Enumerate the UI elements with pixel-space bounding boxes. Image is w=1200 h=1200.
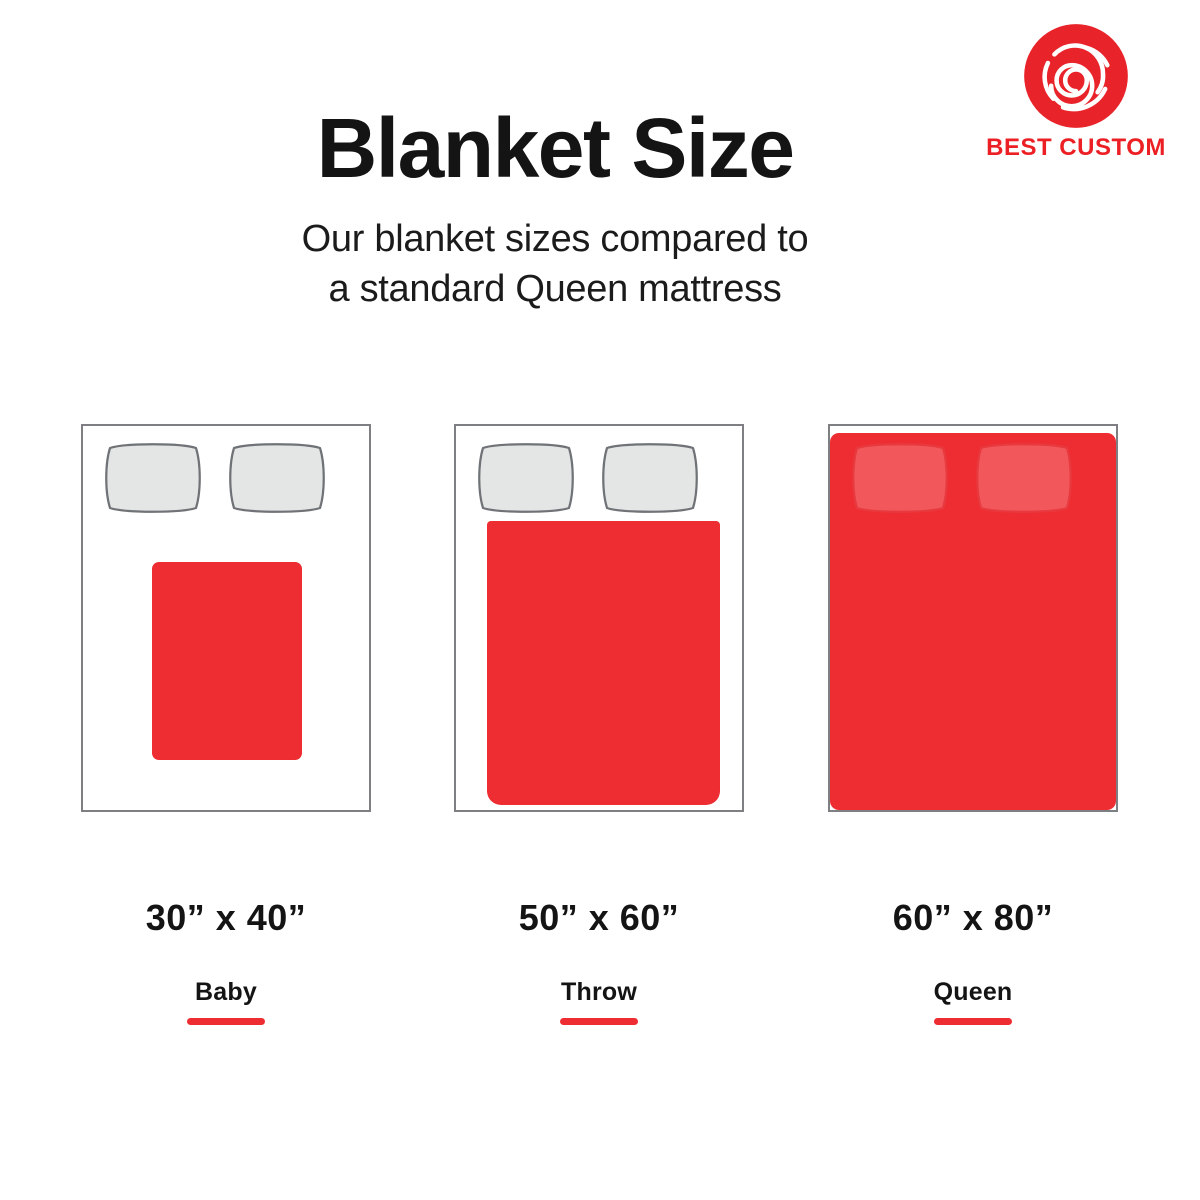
caption-row: 30” x 40” Baby 50” x 60” Throw 60” x 80”… xyxy=(0,900,1200,1060)
caption-underline xyxy=(560,1018,638,1025)
caption-baby: 30” x 40” Baby xyxy=(81,900,371,1025)
pillow-right-icon xyxy=(227,442,327,514)
bed-figure-baby xyxy=(81,424,371,812)
pillow-right-icon xyxy=(600,442,700,514)
caption-throw: 50” x 60” Throw xyxy=(454,900,744,1025)
bed-comparison-row xyxy=(0,424,1200,814)
page-subtitle-line-1: Our blanket sizes compared to xyxy=(0,214,1110,264)
bed-figure-throw xyxy=(454,424,744,812)
blanket-throw xyxy=(487,521,720,805)
caption-size-name: Baby xyxy=(81,980,371,1005)
page-title: Blanket Size xyxy=(0,104,1110,192)
header-block: Blanket Size Our blanket sizes compared … xyxy=(0,104,1200,315)
caption-dimensions: 50” x 60” xyxy=(454,900,744,936)
pillow-left-icon xyxy=(476,442,576,514)
caption-size-name: Queen xyxy=(828,980,1118,1005)
caption-dimensions: 60” x 80” xyxy=(828,900,1118,936)
pillow-left-under-blanket-icon xyxy=(850,442,950,514)
caption-dimensions: 30” x 40” xyxy=(81,900,371,936)
pillow-left-icon xyxy=(103,442,203,514)
page-subtitle-line-2: a standard Queen mattress xyxy=(0,264,1110,314)
pillow-right-under-blanket-icon xyxy=(974,442,1074,514)
caption-size-name: Throw xyxy=(454,980,744,1005)
bed-figure-queen xyxy=(828,424,1118,812)
blanket-baby xyxy=(152,562,302,760)
page-subtitle: Our blanket sizes compared to a standard… xyxy=(0,214,1110,314)
caption-queen: 60” x 80” Queen xyxy=(828,900,1118,1025)
caption-underline xyxy=(934,1018,1012,1025)
caption-underline xyxy=(187,1018,265,1025)
